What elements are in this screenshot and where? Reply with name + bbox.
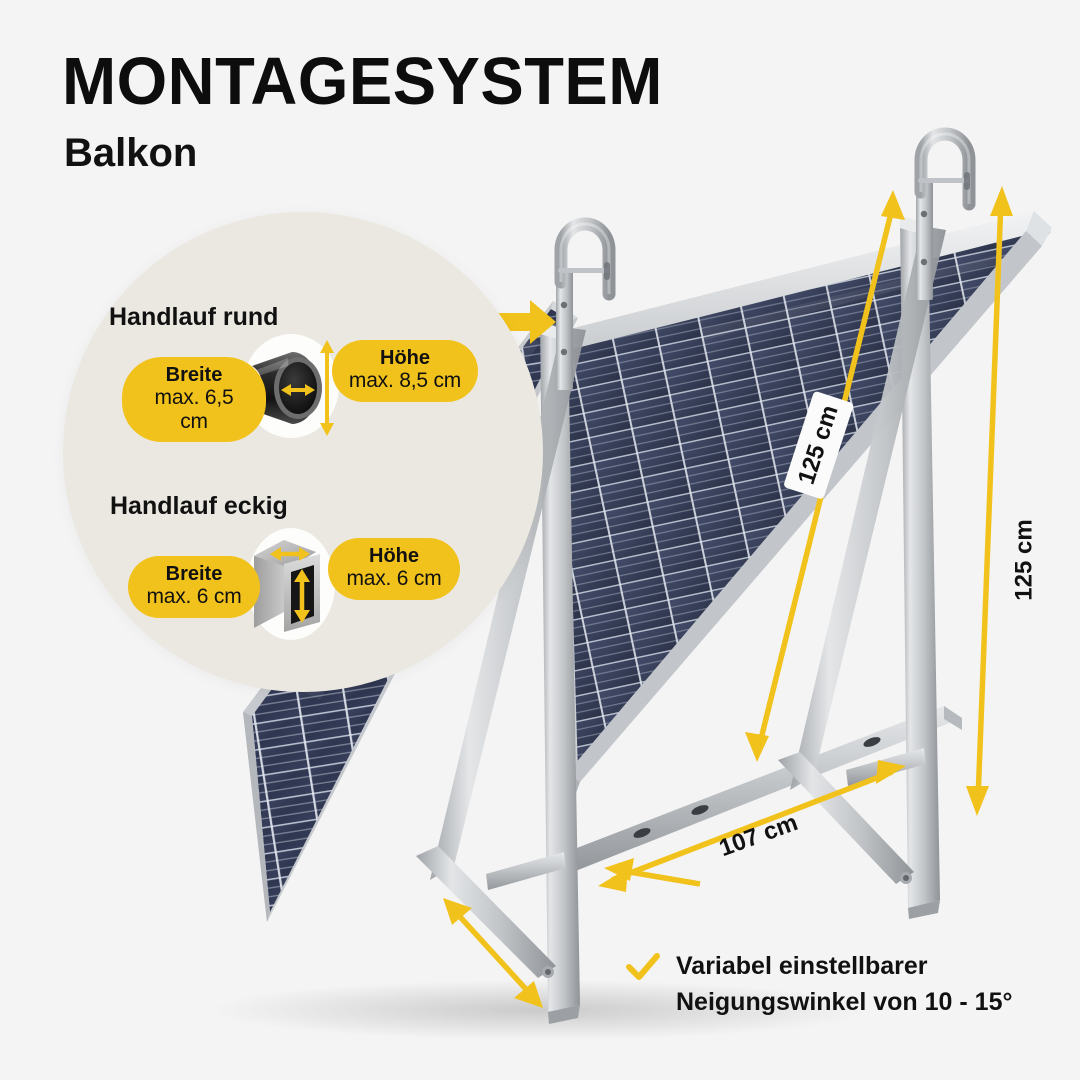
pill-round-breite-value: max. 6,5 cm [138,386,250,433]
pill-round-breite: Breite max. 6,5 cm [122,357,266,442]
square-handrail-tube-icon [250,532,332,636]
pill-square-hoehe-value: max. 6 cm [344,567,444,591]
pill-round-breite-label: Breite [138,364,250,386]
pill-round-hoehe-value: max. 8,5 cm [348,369,462,393]
solar-panel-right [546,211,1052,796]
feature-text: Variabel einstellbarer Neigungswinkel vo… [676,948,1012,1021]
infographic-canvas: MONTAGESYSTEM Balkon [0,0,1080,1080]
pill-square-hoehe-label: Höhe [344,545,444,567]
check-icon [626,952,660,982]
feature-text-line2: Neigungswinkel von 10 - 15° [676,984,1012,1020]
feature-text-line1: Variabel einstellbarer [676,948,1012,984]
pill-round-hoehe: Höhe max. 8,5 cm [332,340,478,402]
pill-round-hoehe-label: Höhe [348,347,462,369]
pill-square-hoehe: Höhe max. 6 cm [328,538,460,600]
handrail-square-heading: Handlauf eckig [110,492,288,521]
pill-square-breite-value: max. 6 cm [144,585,244,609]
pill-square-breite-label: Breite [144,563,244,585]
dimension-label-height-125: 125 cm [1011,519,1039,600]
pill-square-breite: Breite max. 6 cm [128,556,260,618]
feature-tilt-angle: Variabel einstellbarer Neigungswinkel vo… [626,948,1056,1021]
handrail-round-heading: Handlauf rund [109,303,278,332]
